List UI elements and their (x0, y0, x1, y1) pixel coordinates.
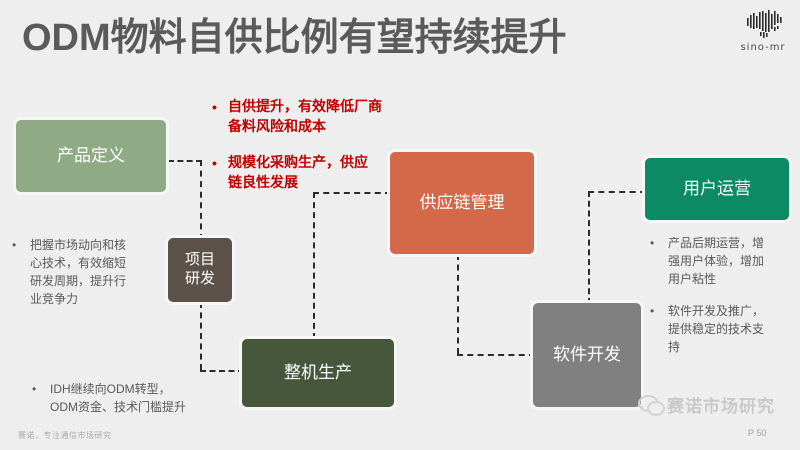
connector-product-to-rnd-v (200, 160, 202, 240)
red-callout-1: • 自供提升，有效降低厂商 备料风险和成本 (228, 96, 443, 137)
red-callout-2-line2: 链良性发展 (228, 172, 428, 192)
node-user-operations-label: 用户运营 (683, 178, 751, 199)
note-left-top-line1: 把握市场动向和核 (30, 236, 170, 254)
note-left-bottom: • IDH继续向ODM转型， ODM资金、技术门槛提升 (50, 380, 250, 416)
node-device-manufacturing-label: 整机生产 (284, 362, 352, 383)
note-right-bottom-line3: 持 (668, 338, 798, 356)
node-software-development-label: 软件开发 (553, 344, 621, 365)
page-title: ODM物料自供比例有望持续提升 (22, 16, 567, 60)
node-user-operations[interactable]: 用户运营 (645, 158, 789, 220)
note-left-bottom-bullet: • (32, 380, 36, 398)
connector-supply-to-software-h (457, 354, 535, 356)
wechat-watermark-text: 赛诺市场研究 (667, 392, 775, 417)
note-left-top-line2: 心技术，有效缩短 (30, 254, 170, 272)
node-project-rnd[interactable]: 项目 研发 (168, 238, 232, 302)
node-product-definition-label: 产品定义 (57, 145, 125, 166)
note-left-top-line3: 研发周期，提升行 (30, 272, 170, 290)
red-callout-1-line2: 备料风险和成本 (228, 116, 443, 136)
red-callout-2-line1: 规模化采购生产，供应 (228, 152, 428, 172)
node-supply-chain-management-label: 供应链管理 (420, 192, 505, 213)
red-callout-1-bullet: • (212, 97, 217, 117)
note-left-bottom-line2: ODM资金、技术门槛提升 (50, 398, 250, 416)
node-project-rnd-label-line1: 项目 (185, 251, 215, 270)
note-right-top-line2: 强用户体验，增加 (668, 252, 798, 270)
footer-left-text: 赛诺，专注通信市场研究 (18, 430, 112, 441)
red-callout-1-line1: 自供提升，有效降低厂商 (228, 96, 443, 116)
logo-brand-text: sino-mr (735, 42, 791, 53)
connector-product-to-rnd-h (168, 160, 202, 162)
node-device-manufacturing[interactable]: 整机生产 (242, 339, 394, 407)
red-callout-2-bullet: • (212, 153, 217, 173)
note-right-bottom-line1: 软件开发及推广， (668, 302, 798, 320)
slide-canvas: ODM物料自供比例有望持续提升 (0, 0, 800, 450)
note-right-bottom: • 软件开发及推广， 提供稳定的技术支 持 (668, 302, 798, 356)
connector-software-to-user-h (588, 191, 646, 193)
connector-rnd-to-manufacture-h (200, 370, 244, 372)
wechat-watermark: 赛诺市场研究 (638, 392, 775, 417)
connector-software-to-user-v (588, 191, 590, 304)
node-software-development[interactable]: 软件开发 (533, 303, 641, 407)
note-right-top: • 产品后期运营，增 强用户体验，增加 用户粘性 (668, 234, 798, 288)
note-left-bottom-line1: IDH继续向ODM转型， (50, 380, 250, 398)
note-left-top-bullet: • (12, 236, 16, 254)
wechat-icon (638, 395, 662, 415)
note-left-top: • 把握市场动向和核 心技术，有效缩短 研发周期，提升行 业竞争力 (30, 236, 170, 308)
connector-manufacture-to-supply-v (313, 192, 315, 339)
note-right-bottom-line2: 提供稳定的技术支 (668, 320, 798, 338)
node-product-definition[interactable]: 产品定义 (16, 120, 166, 192)
page-number: P 50 (748, 428, 766, 438)
note-right-top-line3: 用户粘性 (668, 270, 798, 288)
note-left-top-line4: 业竞争力 (30, 290, 170, 308)
note-right-top-bullet: • (650, 234, 654, 252)
note-right-bottom-bullet: • (650, 302, 654, 320)
china-map-logo-icon (739, 8, 789, 42)
connector-rnd-to-manufacture-v (200, 302, 202, 370)
connector-supply-to-software-v (457, 254, 459, 354)
logo: sino-mr (735, 8, 791, 58)
red-callout-2: • 规模化采购生产，供应 链良性发展 (228, 152, 428, 193)
node-project-rnd-label-line2: 研发 (185, 270, 215, 289)
note-right-top-line1: 产品后期运营，增 (668, 234, 798, 252)
